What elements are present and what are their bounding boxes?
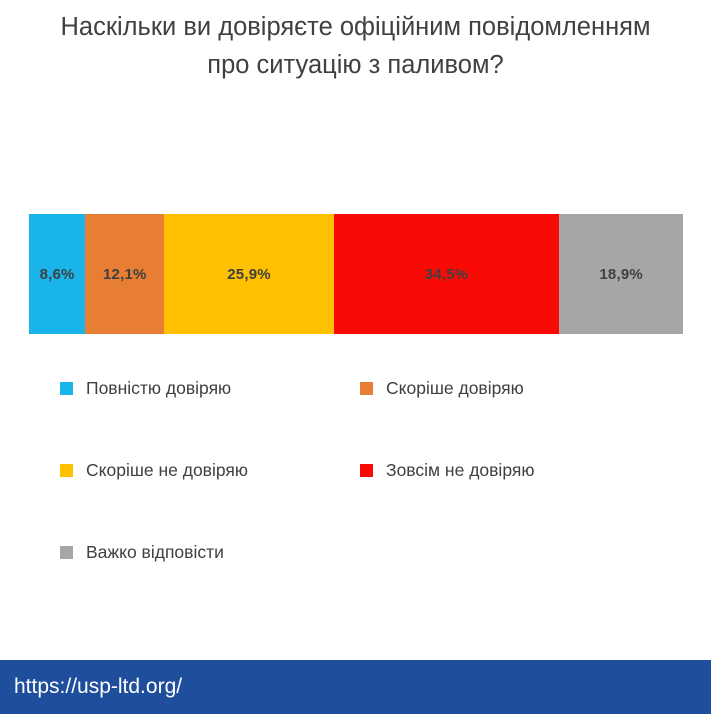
legend-label-4: Зовсім не довіряю xyxy=(386,460,534,481)
legend-label-2: Скоріше довіряю xyxy=(386,378,524,399)
slide-root: Наскільки ви довіряєте офіційним повідом… xyxy=(0,0,711,714)
footer-bar: https://usp-ltd.org/ xyxy=(0,660,711,714)
bar-segment-label-4: 34,5% xyxy=(425,266,469,283)
legend-item-skorishe-ne-doviryayu: Скоріше не довіряю xyxy=(60,460,360,481)
legend-label-5: Важко відповісти xyxy=(86,542,224,563)
chart-title: Наскільки ви довіряєте офіційним повідом… xyxy=(50,8,661,84)
legend-item-vazhko-vidpovisti: Важко відповісти xyxy=(60,542,360,563)
bar-segment-4: 34,5% xyxy=(334,214,560,334)
legend-swatch-icon-4 xyxy=(360,464,373,477)
bar-segment-label-3: 25,9% xyxy=(227,266,271,283)
stacked-bar-chart: 8,6% 12,1% 25,9% 34,5% 18,9% xyxy=(29,214,683,334)
legend-label-1: Повністю довіряю xyxy=(86,378,231,399)
legend-swatch-icon-1 xyxy=(60,382,73,395)
legend-item-zovsim-ne-doviryayu: Зовсім не довіряю xyxy=(360,460,660,481)
legend-swatch-icon-2 xyxy=(360,382,373,395)
bar-segment-5: 18,9% xyxy=(559,214,683,334)
site-url-link[interactable]: https://usp-ltd.org/ xyxy=(14,675,182,699)
chart-legend: Повністю довіряю Скоріше довіряю Скоріше… xyxy=(60,378,660,624)
legend-item-skorishe-doviryayu: Скоріше довіряю xyxy=(360,378,660,399)
bar-segment-1: 8,6% xyxy=(29,214,85,334)
bar-segment-2: 12,1% xyxy=(85,214,164,334)
legend-item-povnistyu-doviryayu: Повністю довіряю xyxy=(60,378,360,399)
legend-row-2: Скоріше не довіряю Зовсім не довіряю xyxy=(60,460,660,542)
legend-label-3: Скоріше не довіряю xyxy=(86,460,248,481)
bar-segment-label-2: 12,1% xyxy=(103,266,147,283)
bar-segment-label-1: 8,6% xyxy=(40,266,75,283)
legend-row-1: Повністю довіряю Скоріше довіряю xyxy=(60,378,660,460)
legend-swatch-icon-3 xyxy=(60,464,73,477)
bar-segment-3: 25,9% xyxy=(164,214,333,334)
legend-swatch-icon-5 xyxy=(60,546,73,559)
legend-row-3: Важко відповісти xyxy=(60,542,660,624)
bar-segment-label-5: 18,9% xyxy=(599,266,643,283)
